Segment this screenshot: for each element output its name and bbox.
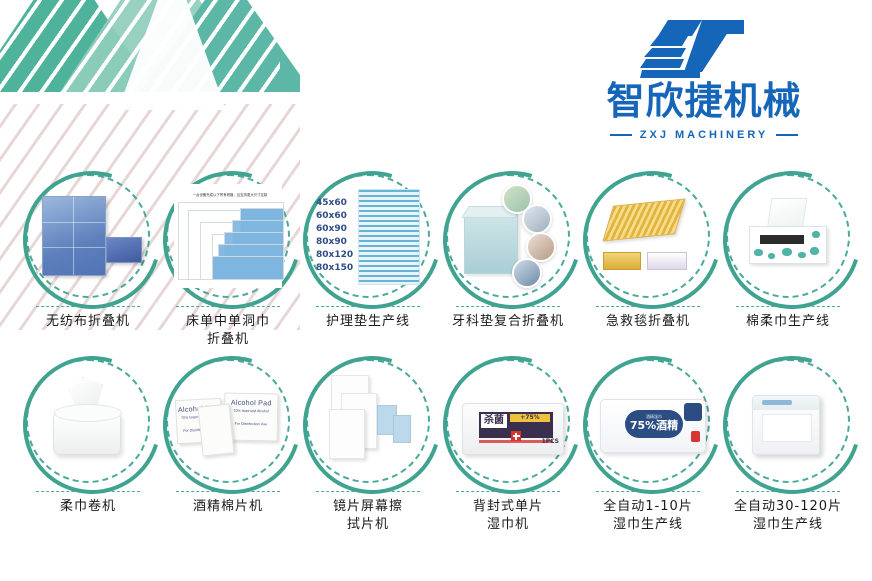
product-label-wrap: 酒精棉片机 xyxy=(160,491,296,516)
product-thumb xyxy=(26,174,150,298)
brand-name-en-wrap: ZXJ MACHINERY xyxy=(588,129,820,141)
product-label-wrap: 护理垫生产线 xyxy=(300,306,436,331)
bedsheet-stack xyxy=(178,202,282,278)
pack-dark-panel: 杀菌 +75% xyxy=(479,412,553,438)
pack-main-text: 75%酒精 xyxy=(625,420,683,432)
photo-bubble xyxy=(522,204,552,234)
product-label: 无纺布折叠机 xyxy=(46,314,130,329)
rule-right xyxy=(776,134,798,136)
product-thumb xyxy=(586,174,710,298)
rule-left xyxy=(610,134,632,136)
triangle-light xyxy=(60,0,260,92)
zxj-logo-icon xyxy=(640,14,768,80)
pack-badge: +75% xyxy=(510,414,550,422)
product-label-wrap: 背封式单片 湿巾机 xyxy=(440,491,576,533)
product-thumb: 杀菌 +75% 1PCS xyxy=(446,359,570,483)
product-thumb: Alcohol Pad 70% Isopropyl Alcohol For Di… xyxy=(166,359,290,483)
triangle-mid xyxy=(140,0,300,92)
wipe-canister-icon xyxy=(734,367,842,475)
underpad-size-list: 45x60 60x60 60x90 80x90 80x120 80x150 xyxy=(316,197,360,275)
brand-name-en: ZXJ MACHINERY xyxy=(640,129,768,141)
product-label: 背封式单片 湿巾机 xyxy=(473,499,543,532)
size-item: 60x60 xyxy=(316,210,360,223)
product-cell-underpad-production-line[interactable]: 45x60 60x60 60x90 80x90 80x120 80x150 护理… xyxy=(298,168,438,353)
product-thumb: 45x60 60x60 60x90 80x90 80x120 80x150 xyxy=(306,174,430,298)
canister-lid-strip xyxy=(762,400,792,405)
lens-wipe-icon xyxy=(314,367,422,475)
product-label: 急救毯折叠机 xyxy=(606,314,690,329)
diagonal-stripes-upper xyxy=(0,0,280,100)
product-thumb: 酒精湿巾 75%酒精 xyxy=(586,359,710,483)
box-label-strip xyxy=(760,235,804,244)
underpad-stack-icon: 45x60 60x60 60x90 80x90 80x120 80x150 xyxy=(314,182,422,290)
product-thumb xyxy=(726,359,850,483)
product-cell-bedsheet-drape-folding-machine[interactable]: 一台设备完成以下所有规格，且支持更大尺寸定制 xyxy=(158,168,298,353)
blanket-gold xyxy=(602,198,685,241)
pad-title: Alcohol Pad xyxy=(225,400,277,408)
tissue-box-icon xyxy=(734,182,842,290)
product-label: 柔巾卷机 xyxy=(60,499,116,514)
folded-cloth-large xyxy=(42,196,106,276)
bedsheet-caption: 一台设备完成以下所有规格，且支持更大尺寸定制 xyxy=(178,190,282,200)
product-label: 全自动30-120片 湿巾生产线 xyxy=(734,499,842,532)
emergency-blanket-icon xyxy=(594,182,702,290)
triangle-white-cut xyxy=(118,0,226,110)
dental-bib-icon xyxy=(454,182,562,290)
wipe-sachet-b xyxy=(393,415,411,443)
product-row-2: 柔巾卷机 Alcohol Pad 70% Isopropyl Alcohol F… xyxy=(18,353,858,543)
product-label-wrap: 全自动30-120片 湿巾生产线 xyxy=(720,491,856,533)
product-label-wrap: 全自动1-10片 湿巾生产线 xyxy=(580,491,716,533)
dental-bib-stack xyxy=(464,214,518,274)
brand-name-cn: 智欣捷机械 xyxy=(588,82,820,120)
wipe-sheet-front xyxy=(329,409,365,459)
product-cell-dental-bib-laminating-folding-machine[interactable]: 牙科垫复合折叠机 xyxy=(438,168,578,353)
underpad-sheets xyxy=(358,189,420,285)
size-item: 60x90 xyxy=(316,223,360,236)
size-item: 80x150 xyxy=(316,262,360,275)
product-label-wrap: 床单中单洞巾 折叠机 xyxy=(160,306,296,348)
towel-roll-icon xyxy=(34,367,142,475)
product-label: 镜片屏幕擦 拭片机 xyxy=(333,499,403,532)
product-cell-lens-screen-wipe-machine[interactable]: 镜片屏幕擦 拭片机 xyxy=(298,353,438,543)
product-label: 棉柔巾生产线 xyxy=(746,314,830,329)
product-label-wrap: 牙科垫复合折叠机 xyxy=(440,306,576,331)
pad-note: For Disinfection Use xyxy=(225,422,277,427)
product-label: 牙科垫复合折叠机 xyxy=(452,314,564,329)
product-label-wrap: 镜片屏幕擦 拭片机 xyxy=(300,491,436,533)
wipe-pack: 杀菌 +75% 1PCS xyxy=(462,403,564,455)
product-cell-alcohol-pad-machine[interactable]: Alcohol Pad 70% Isopropyl Alcohol For Di… xyxy=(158,353,298,543)
folded-cloth-small xyxy=(106,237,142,263)
poster-page: 智欣捷机械 ZXJ MACHINERY xyxy=(0,0,872,581)
pad-sub: 70% Isopropyl Alcohol xyxy=(225,409,277,414)
sterilizing-wipe-pack-icon: 杀菌 +75% 1PCS xyxy=(454,367,562,475)
product-label: 全自动1-10片 湿巾生产线 xyxy=(603,499,693,532)
product-cell-auto-30-120-wet-wipe-line[interactable]: 全自动30-120片 湿巾生产线 xyxy=(718,353,858,543)
pack-sub-text: 酒精湿巾 xyxy=(625,414,683,420)
tissue-box xyxy=(749,226,827,264)
canister-label xyxy=(762,414,812,442)
product-row-1: 无纺布折叠机 一台设备完成以下所有规格，且支持更大尺寸定制 xyxy=(18,168,858,353)
product-label-wrap: 棉柔巾生产线 xyxy=(720,306,856,331)
alcohol-pad-front xyxy=(197,403,234,456)
product-thumb xyxy=(306,359,430,483)
product-cell-emergency-blanket-folding-machine[interactable]: 急救毯折叠机 xyxy=(578,168,718,353)
product-label-wrap: 无纺布折叠机 xyxy=(20,306,156,331)
product-label-wrap: 急救毯折叠机 xyxy=(580,306,716,331)
size-item: 45x60 xyxy=(316,197,360,210)
product-grid: 无纺布折叠机 一台设备完成以下所有规格，且支持更大尺寸定制 xyxy=(18,168,858,543)
alcohol-pad-icon: Alcohol Pad 70% Isopropyl Alcohol For Di… xyxy=(174,367,282,475)
wipe-canister xyxy=(752,395,820,455)
blanket-pack-gold xyxy=(603,252,641,270)
size-item: 80x120 xyxy=(316,249,360,262)
pack-lid-tab xyxy=(684,403,702,421)
product-label: 护理垫生产线 xyxy=(326,314,410,329)
product-cell-soft-towel-roll-machine[interactable]: 柔巾卷机 xyxy=(18,353,158,543)
size-item: 80x90 xyxy=(316,236,360,249)
alcohol-wipe-pack-icon: 酒精湿巾 75%酒精 xyxy=(594,367,702,475)
pack-red-mark xyxy=(691,431,700,442)
product-cell-back-seal-single-wet-wipe-machine[interactable]: 杀菌 +75% 1PCS 背封式单片 湿巾机 xyxy=(438,353,578,543)
blanket-pack-silver xyxy=(647,252,687,270)
product-thumb xyxy=(726,174,850,298)
product-thumb: 一台设备完成以下所有规格，且支持更大尺寸定制 xyxy=(166,174,290,298)
photo-bubble xyxy=(512,258,542,288)
bedsheet-sizes-icon: 一台设备完成以下所有规格，且支持更大尺寸定制 xyxy=(174,182,282,290)
product-cell-auto-1-10-wet-wipe-line[interactable]: 酒精湿巾 75%酒精 全自动1-10片 湿巾生产线 xyxy=(578,353,718,543)
product-label-wrap: 柔巾卷机 xyxy=(20,491,156,516)
pack-count: 1PCS xyxy=(542,438,559,445)
nonwoven-fabric-icon xyxy=(34,182,142,290)
triangle-dark xyxy=(0,0,156,92)
alcohol-wipe-pack: 酒精湿巾 75%酒精 xyxy=(600,399,706,453)
product-cell-cotton-soft-towel-production-line[interactable]: 棉柔巾生产线 xyxy=(718,168,858,353)
pack-badge-oval: 酒精湿巾 75%酒精 xyxy=(625,410,683,438)
towel-roll xyxy=(53,411,121,455)
product-label: 酒精棉片机 xyxy=(193,499,263,514)
brand-logo: 智欣捷机械 ZXJ MACHINERY xyxy=(588,14,820,141)
pack-main-text: 杀菌 xyxy=(481,414,507,428)
product-label: 床单中单洞巾 折叠机 xyxy=(186,314,270,347)
product-thumb xyxy=(26,359,150,483)
product-cell-nonwoven-folding-machine[interactable]: 无纺布折叠机 xyxy=(18,168,158,353)
product-thumb xyxy=(446,174,570,298)
